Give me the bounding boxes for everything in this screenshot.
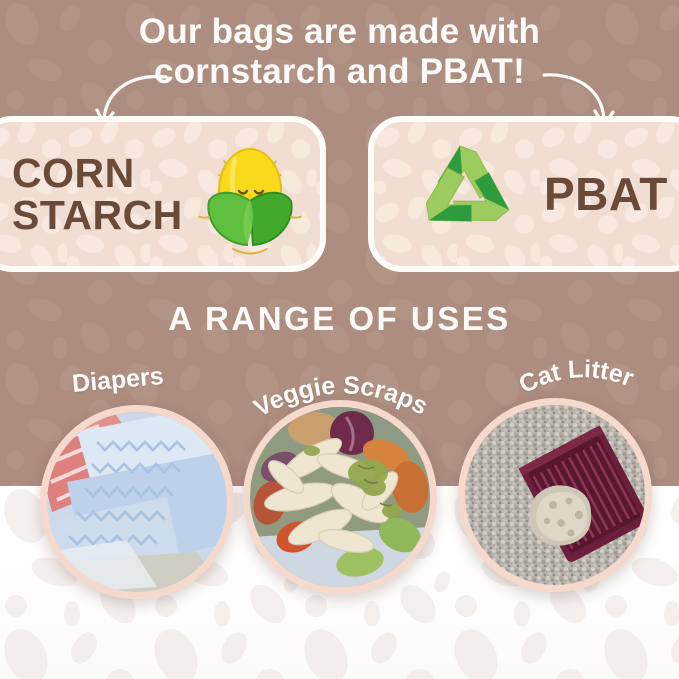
panel-cornstarch-label-line-2: STARCH — [12, 194, 183, 236]
svg-text:Cat Litter: Cat Litter — [514, 356, 639, 400]
corn-mascot-icon — [189, 129, 307, 259]
panel-cornstarch[interactable]: CORN STARCH — [0, 116, 326, 272]
section-title: A RANGE OF USES — [0, 300, 679, 338]
recycle-symbol-icon — [400, 132, 532, 256]
headline-line-1: Our bags are made with — [0, 12, 679, 52]
panel-cornstarch-label: CORN STARCH — [12, 152, 183, 236]
caption-veggie-scraps: Veggie Scraps — [248, 376, 434, 433]
ingredient-panels: CORN STARCH — [0, 116, 679, 274]
panel-pbat-label: PBAT — [544, 173, 668, 215]
infographic-canvas: Our bags are made with cornstarch and PB… — [0, 0, 679, 679]
use-circle-cat-litter[interactable] — [458, 398, 652, 592]
caption-veggie-scraps-text: Veggie Scraps — [249, 376, 432, 423]
cat-litter-photo — [465, 405, 645, 585]
panel-pbat[interactable]: PBAT — [368, 116, 679, 272]
svg-text:Veggie Scraps: Veggie Scraps — [249, 376, 432, 423]
use-circle-diapers[interactable] — [40, 405, 234, 599]
panel-cornstarch-label-line-1: CORN — [12, 152, 183, 194]
veggie-scraps-photo — [250, 407, 430, 587]
diapers-photo — [47, 412, 227, 592]
caption-cat-litter: Cat Litter — [501, 356, 654, 419]
caption-cat-litter-arc: Cat Litter — [501, 356, 653, 412]
caption-veggie-scraps-arc: Veggie Scraps — [248, 376, 434, 426]
caption-cat-litter-text: Cat Litter — [514, 356, 639, 400]
